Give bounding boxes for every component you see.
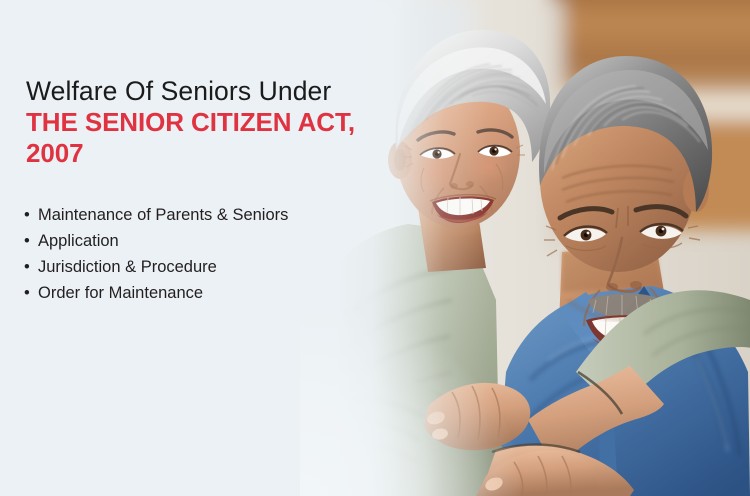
list-item: • Application [22,228,288,254]
senior-citizen-act-banner: Welfare Of Seniors Under THE SENIOR CITI… [0,0,750,496]
headline-line-2: THE SENIOR CITIZEN ACT, [26,107,426,137]
bullet-icon: • [24,228,30,254]
bullet-icon: • [24,202,30,228]
topic-list: • Maintenance of Parents & Seniors • App… [22,202,288,306]
list-item: • Maintenance of Parents & Seniors [22,202,288,228]
headline-line-3: 2007 [26,137,426,169]
page-title: Welfare Of Seniors Under THE SENIOR CITI… [26,76,426,169]
bullet-icon: • [24,254,30,280]
list-item-label: Application [38,232,119,250]
list-item-label: Jurisdiction & Procedure [38,258,217,276]
list-item: • Order for Maintenance [22,280,288,306]
headline-line-1: Welfare Of Seniors Under [26,76,426,107]
list-item-label: Order for Maintenance [38,284,203,302]
bullet-icon: • [24,280,30,306]
list-item-label: Maintenance of Parents & Seniors [38,206,288,224]
text-panel: Welfare Of Seniors Under THE SENIOR CITI… [0,0,420,496]
list-item: • Jurisdiction & Procedure [22,254,288,280]
